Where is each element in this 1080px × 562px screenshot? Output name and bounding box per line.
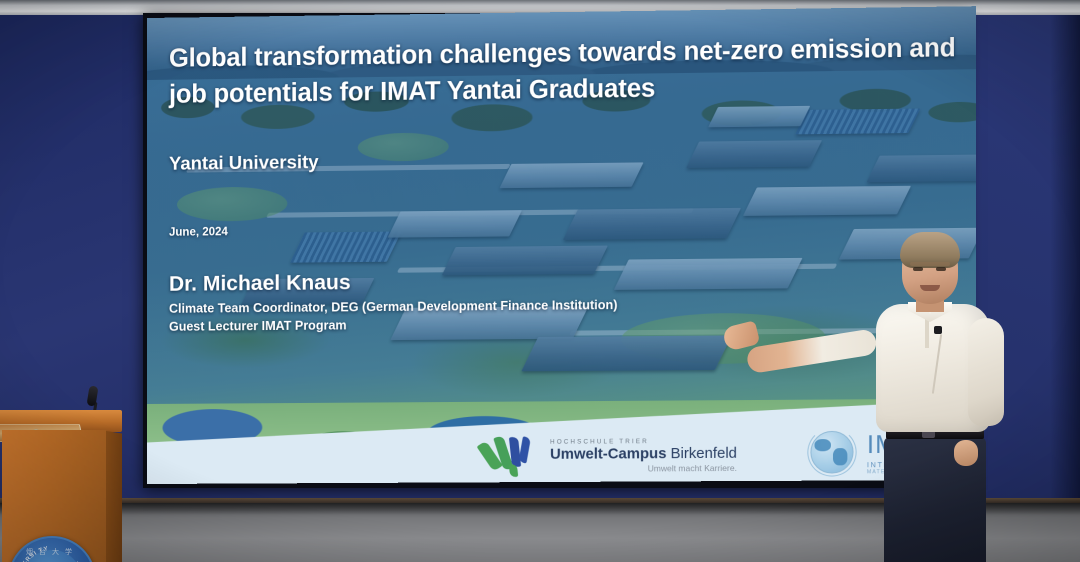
slide-speaker-role-line1: Climate Team Coordinator, DEG (German De… [169, 297, 617, 319]
presenter-brow [910, 262, 950, 266]
presenter-eye-right [936, 267, 946, 271]
slide-speaker-role: Climate Team Coordinator, DEG (German De… [169, 297, 617, 336]
yantai-university-seal: 烟台大学 1984 YANTAI UNIVERSITY [8, 536, 96, 562]
ucb-tagline: Umwelt macht Karriere. [550, 463, 737, 472]
presenter-mouth [920, 285, 940, 291]
ucb-leaf-mark-icon [484, 431, 541, 474]
ucb-name: Umwelt-Campus Birkenfeld [550, 447, 737, 463]
presenter [850, 232, 1020, 562]
shirt-placket [925, 318, 929, 348]
presenter-right-arm [968, 318, 1004, 426]
lapel-microphone-icon [934, 326, 942, 334]
podium: 烟台大学 1984 YANTAI UNIVERSITY [0, 388, 122, 562]
presenter-eye-left [913, 267, 923, 271]
podium-top-surface [0, 410, 122, 432]
slide-date: June, 2024 [169, 226, 228, 239]
right-wall-shading [1050, 13, 1080, 523]
ucb-logo: HOCHSCHULE TRIER Umwelt-Campus Birkenfel… [484, 429, 737, 473]
presenter-right-hand-in-pocket [954, 440, 978, 466]
slide-organization: Yantai University [169, 151, 319, 175]
slide-speaker-name: Dr. Michael Knaus [169, 271, 351, 297]
ucb-eyebrow: HOCHSCHULE TRIER [550, 438, 737, 445]
seal-english-char: Y [43, 546, 48, 553]
seal-english-name-ring: YANTAI UNIVERSITY [10, 538, 94, 562]
slide-speaker-role-line2: Guest Lecturer IMAT Program [169, 315, 617, 336]
ucb-name-bold: Umwelt-Campus [550, 446, 666, 463]
ucb-name-light: Birkenfeld [671, 446, 737, 463]
slide-title: Global transformation challenges towards… [169, 30, 962, 113]
projection-screen-bezel: Global transformation challenges towards… [143, 13, 967, 488]
ucb-wordmark: HOCHSCHULE TRIER Umwelt-Campus Birkenfel… [550, 438, 737, 473]
lecture-hall-scene: Global transformation challenges towards… [0, 0, 1080, 562]
podium-body: 烟台大学 1984 YANTAI UNIVERSITY [2, 430, 106, 562]
